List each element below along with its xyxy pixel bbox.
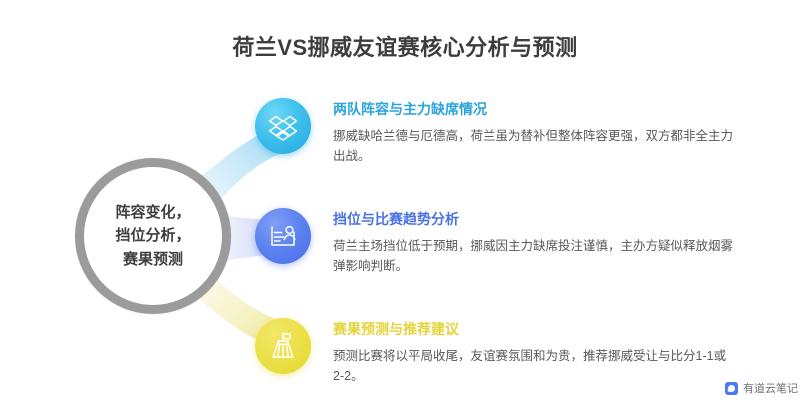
item-heading-2: 赛果预测与推荐建议 xyxy=(333,320,800,340)
item-text-1: 挡位与比赛趋势分析 荷兰主场挡位低于预期，挪威因主力缺席投注谨慎，主办方疑似释放… xyxy=(311,208,800,276)
center-hub-text: 阵容变化， 挡位分析， 赛果预测 xyxy=(115,201,190,271)
item-body-0: 挪威缺哈兰德与厄德高，荷兰虽为替补但整体阵容更强，双方都非全主力出战。 xyxy=(333,126,733,167)
item-body-2: 预测比赛将以平局收尾，友谊赛氛围和为贵，推荐挪威受让与比分1-1或2-2。 xyxy=(333,346,733,387)
center-hub-line-3: 赛果预测 xyxy=(115,248,190,271)
infographic-canvas: 荷兰VS挪威友谊赛核心分析与预测 阵容变化， 挡位分析， 赛果预测 两队阵容与主… xyxy=(0,0,810,404)
item-text-0: 两队阵容与主力缺席情况 挪威缺哈兰德与厄德高，荷兰虽为替补但整体阵容更强，双方都… xyxy=(311,98,800,166)
center-hub: 阵容变化， 挡位分析， 赛果预测 xyxy=(75,158,231,314)
watermark: 有道云笔记 xyxy=(725,380,798,396)
item-body-1: 荷兰主场挡位低于预期，挪威因主力缺席投注谨慎，主办方疑似释放烟雾弹影响判断。 xyxy=(333,236,733,277)
item-row-0: 两队阵容与主力缺席情况 挪威缺哈兰德与厄德高，荷兰虽为替补但整体阵容更强，双方都… xyxy=(255,98,800,166)
watermark-label: 有道云笔记 xyxy=(743,380,798,396)
center-hub-line-1: 阵容变化， xyxy=(115,201,190,224)
id-card-person-icon xyxy=(255,208,311,264)
item-text-2: 赛果预测与推荐建议 预测比赛将以平局收尾，友谊赛氛围和为贵，推荐挪威受让与比分1… xyxy=(311,318,800,386)
page-title: 荷兰VS挪威友谊赛核心分析与预测 xyxy=(0,30,810,62)
item-heading-1: 挡位与比赛趋势分析 xyxy=(333,210,800,230)
dropbox-boxes-icon xyxy=(255,98,311,154)
stadium-flag-icon xyxy=(255,318,311,374)
item-row-2: 赛果预测与推荐建议 预测比赛将以平局收尾，友谊赛氛围和为贵，推荐挪威受让与比分1… xyxy=(255,318,800,386)
youdao-cloud-note-icon xyxy=(725,382,738,395)
item-row-1: 挡位与比赛趋势分析 荷兰主场挡位低于预期，挪威因主力缺席投注谨慎，主办方疑似释放… xyxy=(255,208,800,276)
center-hub-line-2: 挡位分析， xyxy=(115,224,190,247)
item-heading-0: 两队阵容与主力缺席情况 xyxy=(333,100,800,120)
